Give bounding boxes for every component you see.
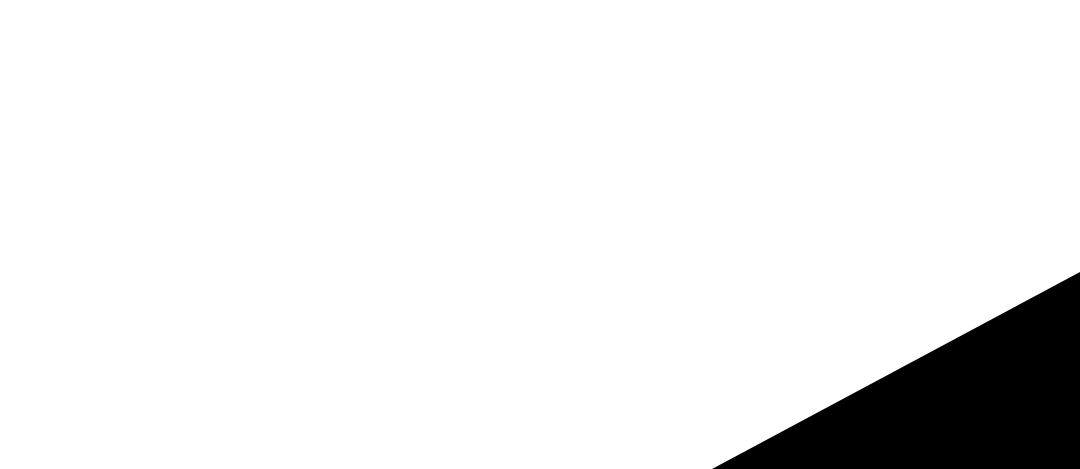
legend-footer xyxy=(0,360,1080,469)
legend-rule-left xyxy=(355,375,610,379)
infographic-root xyxy=(0,0,1080,469)
title-banner xyxy=(0,0,808,45)
gauge-row xyxy=(0,60,1080,360)
legend-swatch-green xyxy=(625,372,637,384)
legend-rule-right xyxy=(790,375,1062,379)
legend-item-portion-nonfiction xyxy=(98,368,348,384)
legend-swatch-blue xyxy=(98,372,110,384)
legend-item-naep-guideline xyxy=(625,368,644,384)
